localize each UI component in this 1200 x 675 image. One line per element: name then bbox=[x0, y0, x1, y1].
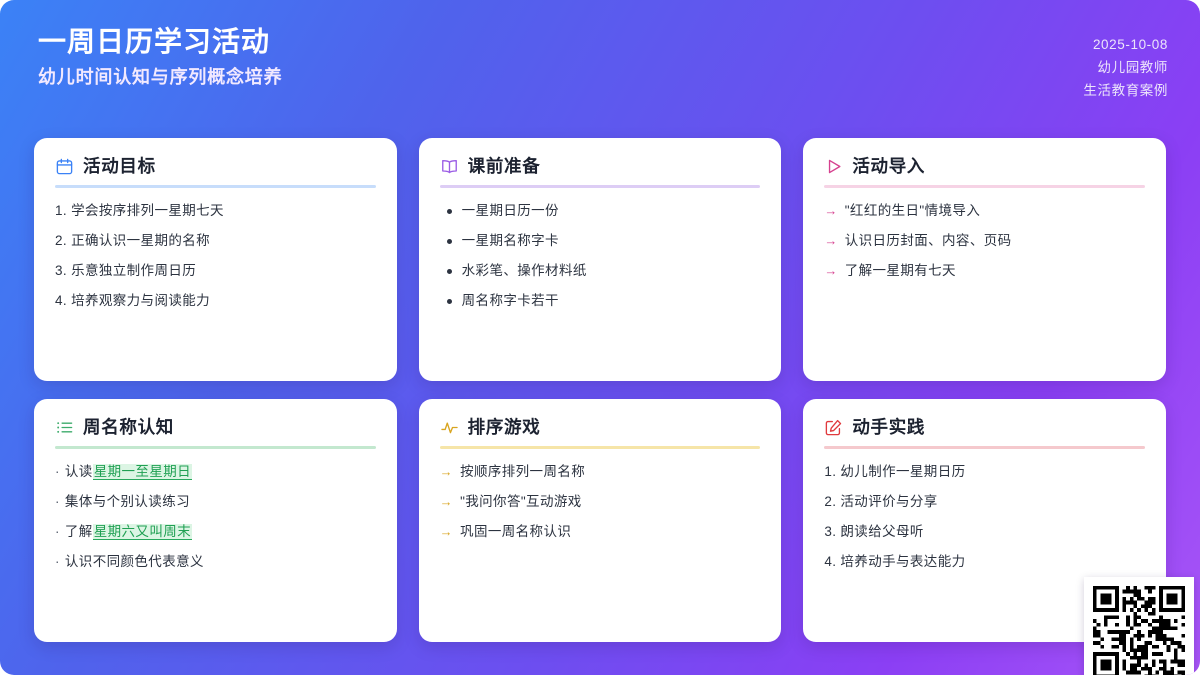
list-item-text: 集体与个别认读练习 bbox=[65, 494, 190, 511]
list-item-index: 1. bbox=[55, 203, 67, 220]
list-item-lead-text: 巩固一周名称认识 bbox=[460, 524, 571, 539]
card-title: 动手实践 bbox=[852, 419, 925, 437]
list-item-lead-text: 学会按序排列一星期七天 bbox=[71, 203, 224, 218]
card-list: ·认读星期一至星期日·集体与个别认读练习·了解星期六又叫周末·认识不同颜色代表意… bbox=[55, 464, 376, 584]
slide-header: 一周日历学习活动 幼儿时间认知与序列概念培养 2025-10-08 幼儿园教师 … bbox=[0, 0, 1200, 122]
qr-code[interactable] bbox=[1084, 577, 1194, 675]
card-header: 活动目标 bbox=[55, 157, 376, 185]
meta-category: 生活教育案例 bbox=[1083, 82, 1168, 100]
list-item-text: 一星期名称字卡 bbox=[462, 233, 559, 250]
card-accent-rule bbox=[440, 185, 761, 188]
list-item-text: 水彩笔、操作材料纸 bbox=[462, 263, 587, 280]
list-item-marker: · bbox=[55, 494, 60, 511]
slide-root: 一周日历学习活动 幼儿时间认知与序列概念培养 2025-10-08 幼儿园教师 … bbox=[0, 0, 1200, 675]
list-item: 4.培养动手与表达能力 bbox=[824, 554, 1145, 571]
list-item-index: 4. bbox=[55, 293, 67, 310]
card-accent-rule bbox=[55, 446, 376, 449]
list-item-text: 按顺序排列一周名称 bbox=[460, 464, 585, 481]
card-accent-rule bbox=[824, 446, 1145, 449]
list-item-lead-text: 认识日历封面、内容、页码 bbox=[845, 233, 1012, 248]
list-item-lead-text: 认读 bbox=[65, 464, 93, 479]
arrow-right-icon: → bbox=[440, 464, 453, 481]
list-item: 周名称字卡若干 bbox=[440, 293, 761, 310]
open-book-icon bbox=[440, 157, 459, 176]
list-item-index: 2. bbox=[824, 494, 836, 511]
meta-date: 2025-10-08 bbox=[1093, 36, 1168, 54]
card-accent-rule bbox=[55, 185, 376, 188]
list-item: 3.朗读给父母听 bbox=[824, 524, 1145, 541]
edit-square-icon bbox=[824, 418, 843, 437]
list-item-lead-text: 一星期名称字卡 bbox=[462, 233, 559, 248]
bullet-dot-icon bbox=[447, 239, 452, 244]
list-item: →巩固一周名称认识 bbox=[440, 524, 761, 541]
list-item: ·认读星期一至星期日 bbox=[55, 464, 376, 481]
list-item-text: 培养动手与表达能力 bbox=[840, 554, 965, 571]
list-item-text: 乐意独立制作周日历 bbox=[71, 263, 196, 280]
arrow-right-icon: → bbox=[440, 494, 453, 511]
card-title: 周名称认知 bbox=[83, 419, 174, 437]
list-item-lead-text: 周名称字卡若干 bbox=[462, 293, 559, 308]
arrow-right-icon: → bbox=[824, 203, 837, 220]
list-item: →了解一星期有七天 bbox=[824, 263, 1145, 280]
calendar-icon bbox=[55, 157, 74, 176]
list-item: 1.幼儿制作一星期日历 bbox=[824, 464, 1145, 481]
card-title: 活动目标 bbox=[83, 158, 156, 176]
list-item-lead-text: 认识不同颜色代表意义 bbox=[65, 554, 204, 569]
list-item-marker: · bbox=[55, 554, 60, 571]
card-title: 活动导入 bbox=[852, 158, 925, 176]
arrow-right-icon: → bbox=[824, 263, 837, 280]
list-item-text: 朗读给父母听 bbox=[840, 524, 923, 541]
bullet-dot-icon bbox=[447, 299, 452, 304]
card-header: 活动导入 bbox=[824, 157, 1145, 185]
arrow-right-icon: → bbox=[824, 233, 837, 250]
list-item-text: 巩固一周名称认识 bbox=[460, 524, 571, 541]
list-item-text: "我问你答"互动游戏 bbox=[460, 494, 582, 511]
list-item-text: 了解一星期有七天 bbox=[845, 263, 956, 280]
bullet-dot-icon bbox=[447, 269, 452, 274]
list-item-lead-text: 乐意独立制作周日历 bbox=[71, 263, 196, 278]
list-item-text: 培养观察力与阅读能力 bbox=[71, 293, 210, 310]
card-accent-rule bbox=[440, 446, 761, 449]
highlighted-term: 星期六又叫周末 bbox=[93, 524, 192, 540]
list-item: →按顺序排列一周名称 bbox=[440, 464, 761, 481]
list-item-lead-text: 一星期日历一份 bbox=[462, 203, 559, 218]
list-item-lead-text: 水彩笔、操作材料纸 bbox=[462, 263, 587, 278]
list-item-index: 3. bbox=[824, 524, 836, 541]
page-title: 一周日历学习活动 bbox=[38, 26, 282, 58]
card-header: 动手实践 bbox=[824, 418, 1145, 446]
list-item: 3.乐意独立制作周日历 bbox=[55, 263, 376, 280]
list-item: 2.正确认识一星期的名称 bbox=[55, 233, 376, 250]
list-item: →认识日历封面、内容、页码 bbox=[824, 233, 1145, 250]
list-item-text: 认识不同颜色代表意义 bbox=[65, 554, 204, 571]
card-accent-rule bbox=[824, 185, 1145, 188]
list-item-lead-text: 培养动手与表达能力 bbox=[840, 554, 965, 569]
card-activity-goals[interactable]: 活动目标1.学会按序排列一星期七天2.正确认识一星期的名称3.乐意独立制作周日历… bbox=[34, 138, 397, 381]
list-item: 4.培养观察力与阅读能力 bbox=[55, 293, 376, 310]
card-list: →"红红的生日"情境导入→认识日历封面、内容、页码→了解一星期有七天 bbox=[824, 203, 1145, 293]
list-item: 一星期日历一份 bbox=[440, 203, 761, 220]
page-subtitle: 幼儿时间认知与序列概念培养 bbox=[38, 67, 282, 89]
card-title: 排序游戏 bbox=[468, 419, 541, 437]
card-header: 课前准备 bbox=[440, 157, 761, 185]
list-item: 2.活动评价与分享 bbox=[824, 494, 1145, 511]
list-item: →"红红的生日"情境导入 bbox=[824, 203, 1145, 220]
card-title: 课前准备 bbox=[468, 158, 541, 176]
list-item: 水彩笔、操作材料纸 bbox=[440, 263, 761, 280]
list-lines-icon bbox=[55, 418, 74, 437]
card-weekday-names[interactable]: 周名称认知·认读星期一至星期日·集体与个别认读练习·了解星期六又叫周末·认识不同… bbox=[34, 399, 397, 642]
list-item-index: 2. bbox=[55, 233, 67, 250]
list-item-index: 4. bbox=[824, 554, 836, 571]
list-item-lead-text: 了解 bbox=[65, 524, 93, 539]
list-item-text: 活动评价与分享 bbox=[840, 494, 937, 511]
list-item-index: 3. bbox=[55, 263, 67, 280]
card-lesson-preparation[interactable]: 课前准备一星期日历一份一星期名称字卡水彩笔、操作材料纸周名称字卡若干 bbox=[419, 138, 782, 381]
play-triangle-icon bbox=[824, 157, 843, 176]
list-item-text: 认识日历封面、内容、页码 bbox=[845, 233, 1012, 250]
card-grid: 活动目标1.学会按序排列一星期七天2.正确认识一星期的名称3.乐意独立制作周日历… bbox=[34, 138, 1166, 642]
list-item-lead-text: 了解一星期有七天 bbox=[845, 263, 956, 278]
card-list: →按顺序排列一周名称→"我问你答"互动游戏→巩固一周名称认识 bbox=[440, 464, 761, 554]
list-item-lead-text: 培养观察力与阅读能力 bbox=[71, 293, 210, 308]
card-list: 1.幼儿制作一星期日历2.活动评价与分享3.朗读给父母听4.培养动手与表达能力 bbox=[824, 464, 1145, 584]
list-item-lead-text: 活动评价与分享 bbox=[840, 494, 937, 509]
bullet-dot-icon bbox=[447, 209, 452, 214]
list-item-marker: · bbox=[55, 524, 60, 541]
list-item-text: 了解星期六又叫周末 bbox=[65, 524, 192, 541]
card-activity-introduction[interactable]: 活动导入→"红红的生日"情境导入→认识日历封面、内容、页码→了解一星期有七天 bbox=[803, 138, 1166, 381]
arrow-right-icon: → bbox=[440, 524, 453, 541]
card-list: 1.学会按序排列一星期七天2.正确认识一星期的名称3.乐意独立制作周日历4.培养… bbox=[55, 203, 376, 323]
list-item-lead-text: "红红的生日"情境导入 bbox=[845, 203, 980, 218]
list-item-text: 认读星期一至星期日 bbox=[65, 464, 192, 481]
list-item-text: 学会按序排列一星期七天 bbox=[71, 203, 224, 220]
list-item-marker: · bbox=[55, 464, 60, 481]
qr-code-image bbox=[1093, 586, 1185, 675]
list-item-text: 一星期日历一份 bbox=[462, 203, 559, 220]
card-list: 一星期日历一份一星期名称字卡水彩笔、操作材料纸周名称字卡若干 bbox=[440, 203, 761, 323]
header-meta: 2025-10-08 幼儿园教师 生活教育案例 bbox=[1083, 26, 1168, 101]
highlighted-term: 星期一至星期日 bbox=[93, 464, 192, 480]
list-item-index: 1. bbox=[824, 464, 836, 481]
list-item-text: "红红的生日"情境导入 bbox=[845, 203, 980, 220]
header-left: 一周日历学习活动 幼儿时间认知与序列概念培养 bbox=[38, 26, 282, 89]
meta-author: 幼儿园教师 bbox=[1098, 59, 1169, 77]
list-item-lead-text: 集体与个别认读练习 bbox=[65, 494, 190, 509]
list-item-lead-text: 正确认识一星期的名称 bbox=[71, 233, 210, 248]
list-item-lead-text: 朗读给父母听 bbox=[840, 524, 923, 539]
list-item-lead-text: 按顺序排列一周名称 bbox=[460, 464, 585, 479]
list-item: →"我问你答"互动游戏 bbox=[440, 494, 761, 511]
card-header: 周名称认知 bbox=[55, 418, 376, 446]
list-item: ·集体与个别认读练习 bbox=[55, 494, 376, 511]
list-item: 一星期名称字卡 bbox=[440, 233, 761, 250]
card-sequence-game[interactable]: 排序游戏→按顺序排列一周名称→"我问你答"互动游戏→巩固一周名称认识 bbox=[419, 399, 782, 642]
list-item-text: 周名称字卡若干 bbox=[462, 293, 559, 310]
card-header: 排序游戏 bbox=[440, 418, 761, 446]
list-item: ·了解星期六又叫周末 bbox=[55, 524, 376, 541]
list-item-lead-text: "我问你答"互动游戏 bbox=[460, 494, 582, 509]
list-item-text: 幼儿制作一星期日历 bbox=[840, 464, 965, 481]
list-item-lead-text: 幼儿制作一星期日历 bbox=[840, 464, 965, 479]
pulse-icon bbox=[440, 418, 459, 437]
list-item-text: 正确认识一星期的名称 bbox=[71, 233, 210, 250]
list-item: 1.学会按序排列一星期七天 bbox=[55, 203, 376, 220]
list-item: ·认识不同颜色代表意义 bbox=[55, 554, 376, 571]
